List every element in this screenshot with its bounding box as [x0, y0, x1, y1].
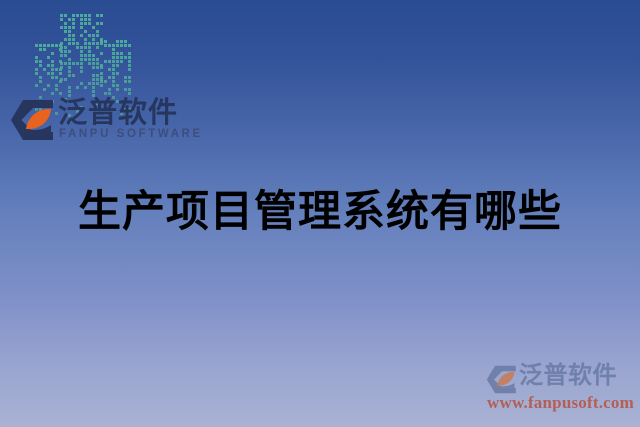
brand-logo: 泛普软件 FANPU SOFTWARE [10, 97, 170, 149]
page-title: 生产项目管理系统有哪些 [0, 186, 640, 238]
watermark: 泛普软件 www.fanpusoft.com [486, 361, 636, 419]
left-tower [35, 44, 57, 100]
watermark-url: www.fanpusoft.com [487, 393, 634, 413]
center-tower [60, 14, 94, 100]
brand-name-en: FANPU SOFTWARE [59, 128, 203, 141]
watermark-brand-cn: 泛普软件 [519, 361, 617, 391]
right-tower [100, 40, 124, 100]
pixel-city-skyline-icon [30, 4, 175, 100]
promo-banner: 泛普软件 FANPU SOFTWARE 生产项目管理系统有哪些 泛普软件 www… [0, 0, 640, 427]
fanpu-hexagon-swoosh-logo-icon [10, 99, 56, 141]
fanpu-hexagon-swoosh-logo-icon [486, 365, 518, 394]
brand-name-cn: 泛普软件 [58, 97, 178, 129]
